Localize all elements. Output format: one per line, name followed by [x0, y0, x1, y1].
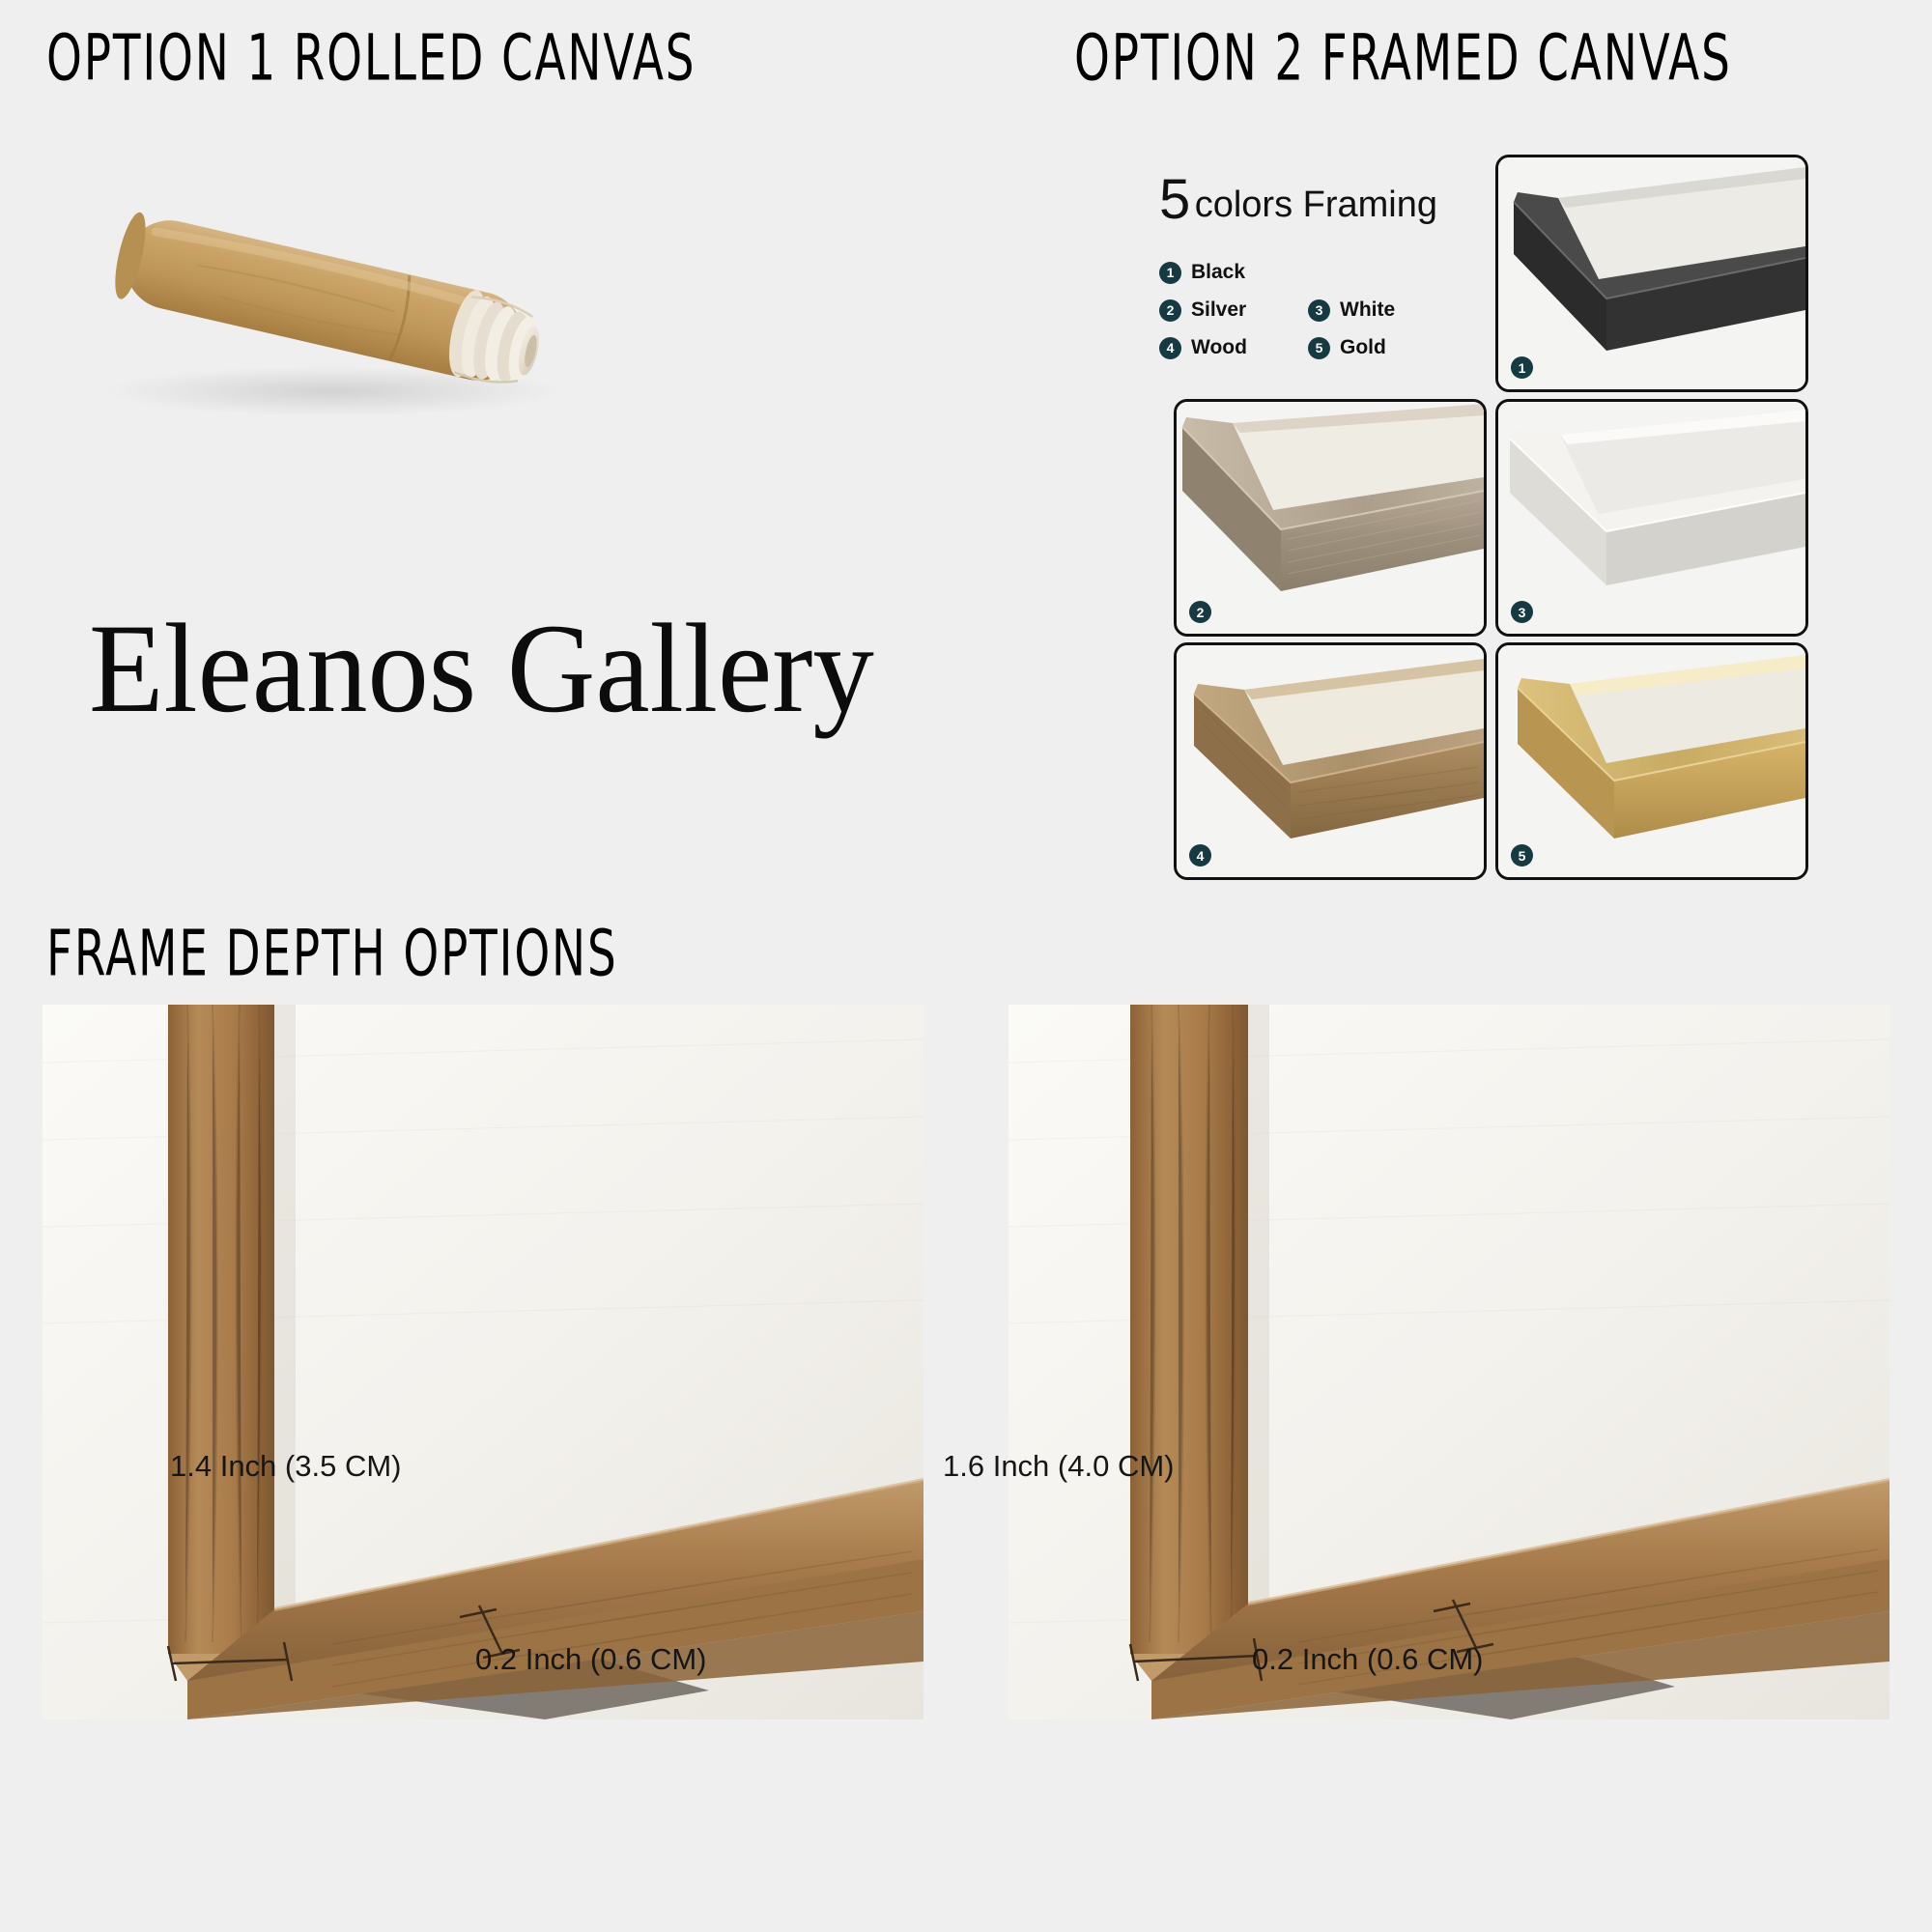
legend-color-count: 5: [1159, 168, 1190, 231]
legend-title: 5 colors Framing: [1159, 172, 1488, 228]
frame-depth-illustration-left: [43, 1005, 923, 1719]
legend-row: 4 Wood 5 Gold: [1159, 336, 1488, 359]
heading-option-1-rolled-canvas: OPTION 1 ROLLED CANVAS: [46, 21, 696, 96]
badge-number-1: 1: [1159, 262, 1181, 284]
badge-number-5: 5: [1308, 337, 1330, 359]
legend-row: 1 Black: [1159, 261, 1488, 284]
rolled-canvas-tube-image: [77, 164, 580, 435]
legend-row: 2 Silver 3 White: [1159, 298, 1488, 322]
badge-number-4: 4: [1159, 337, 1181, 359]
legend-title-label: colors Framing: [1195, 185, 1437, 225]
frame-swatch-gold[interactable]: 5: [1495, 642, 1808, 880]
legend-item-label: Wood: [1191, 336, 1247, 359]
legend-item-rows: 1 Black 2 Silver 3 White 4 Wood: [1159, 261, 1488, 359]
frame-swatch-white[interactable]: 3: [1495, 399, 1808, 637]
legend-item-white[interactable]: 3 White: [1308, 298, 1395, 322]
frame-corner-photo-black: [1498, 157, 1805, 389]
frame-depth-illustration-right: [1009, 1005, 1889, 1719]
frame-corner-photo-white: [1498, 402, 1805, 634]
badge-number-2: 2: [1159, 299, 1181, 322]
legend-item-black[interactable]: 1 Black: [1159, 261, 1245, 284]
framing-colors-legend: 5 colors Framing 1 Black 2 Silver 3 Whit…: [1159, 172, 1488, 374]
frame-depth-photo-left: [43, 1005, 923, 1719]
depth-label-right-width: 1.6 Inch (4.0 CM): [943, 1449, 1174, 1484]
frame-card-badge-2: 2: [1189, 601, 1211, 623]
depth-label-left-width: 1.4 Inch (3.5 CM): [170, 1449, 401, 1484]
frame-card-badge-3: 3: [1511, 601, 1533, 623]
legend-item-label: Silver: [1191, 298, 1246, 322]
depth-label-right-thickness: 0.2 Inch (0.6 CM): [1252, 1642, 1483, 1677]
frame-card-badge-5: 5: [1511, 844, 1533, 867]
frame-corner-photo-silver: [1177, 402, 1484, 634]
badge-number-3: 3: [1308, 299, 1330, 322]
frame-corner-photo-gold: [1498, 645, 1805, 877]
depth-label-left-thickness: 0.2 Inch (0.6 CM): [475, 1642, 706, 1677]
brand-logo-text: Eleanos Gallery: [89, 594, 874, 742]
mailing-tube-illustration: [77, 164, 580, 435]
frame-corner-photo-wood: [1177, 645, 1484, 877]
frame-card-badge-4: 4: [1189, 844, 1211, 867]
legend-item-wood[interactable]: 4 Wood: [1159, 336, 1267, 359]
legend-item-label: White: [1340, 298, 1395, 322]
frame-card-badge-1: 1: [1511, 356, 1533, 379]
legend-item-gold[interactable]: 5 Gold: [1308, 336, 1386, 359]
frame-swatch-wood[interactable]: 4: [1174, 642, 1487, 880]
legend-item-silver[interactable]: 2 Silver: [1159, 298, 1267, 322]
legend-item-label: Black: [1191, 261, 1245, 284]
frame-depth-photo-right: [1009, 1005, 1889, 1719]
heading-frame-depth-options: FRAME DEPTH OPTIONS: [46, 917, 618, 991]
heading-option-2-framed-canvas: OPTION 2 FRAMED CANVAS: [1074, 21, 1732, 96]
product-infographic: OPTION 1 ROLLED CANVAS OPTION 2 FRAMED C…: [0, 0, 1932, 1932]
legend-item-label: Gold: [1340, 336, 1386, 359]
frame-swatch-silver[interactable]: 2: [1174, 399, 1487, 637]
frame-swatch-black[interactable]: 1: [1495, 155, 1808, 392]
